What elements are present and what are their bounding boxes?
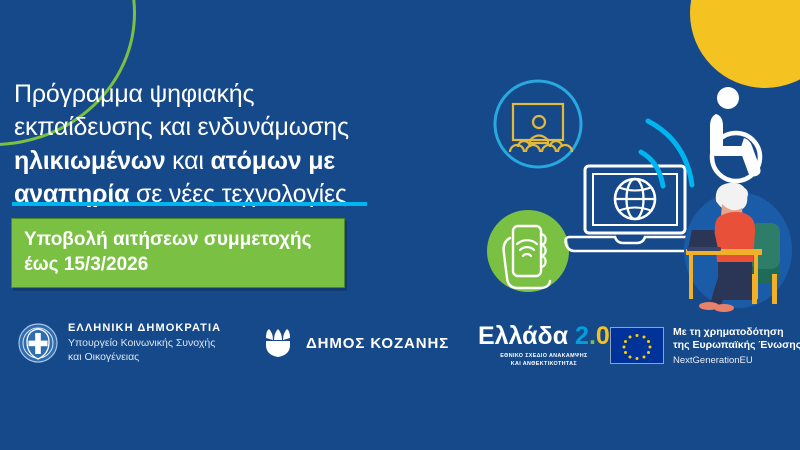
gov-subtitle-2: και Οικογένειας [68, 350, 221, 365]
headline-line-2: εκπαίδευσης και ενδυνάμωσης [14, 111, 414, 144]
gov-subtitle-1: Υπουργείο Κοινωνικής Συνοχής [68, 336, 221, 351]
headline-conjunction: και [165, 147, 210, 175]
greece-version-zero: 0 [596, 322, 610, 350]
cyan-divider [12, 202, 367, 206]
kozani-crocus-icon [262, 326, 294, 360]
headline-emphasis-persons: ατόμων με [211, 147, 335, 175]
footer-logos: ΕΛΛΗΝΙΚΗ ΔΗΜΟΚΡΑΤΙΑ Υπουργείο Κοινωνικής… [0, 312, 800, 382]
application-deadline-box: Υποβολή αιτήσεων συμμετοχής έως 15/3/202… [11, 218, 345, 288]
yellow-circle-decoration [690, 0, 800, 88]
illustration-svg [460, 78, 800, 313]
eu-funding-logo: Με τη χρηματοδότηση της Ευρωπαϊκής Ένωση… [610, 326, 800, 366]
classroom-presentation-icon [495, 81, 581, 167]
wheelchair-accessibility-icon [710, 87, 761, 181]
greece-2-0-subtitle-1: ΕΘΝΙΚΟ ΣΧΕΔΙΟ ΑΝΑΚΑΜΨΗΣ [478, 352, 610, 360]
greece-2-0-wordmark: Ελλάδα 2.0 [478, 324, 610, 349]
greece-2-0-logo: Ελλάδα 2.0 ΕΘΝΙΚΟ ΣΧΕΔΙΟ ΑΝΑΚΑΜΨΗΣ ΚΑΙ Α… [478, 324, 610, 368]
eu-funding-line-1: Με τη χρηματοδότηση [673, 326, 800, 339]
program-announcement-banner: Πρόγραμμα ψηφιακής εκπαίδευσης και ενδυν… [0, 0, 800, 450]
greece-version-dot: . [589, 322, 596, 350]
european-union-flag-icon [610, 327, 664, 364]
hellenic-republic-logo: ΕΛΛΗΝΙΚΗ ΔΗΜΟΚΡΑΤΙΑ Υπουργείο Κοινωνικής… [18, 320, 221, 366]
gov-title: ΕΛΛΗΝΙΚΗ ΔΗΜΟΚΡΑΤΙΑ [68, 321, 221, 336]
headline-block: Πρόγραμμα ψηφιακής εκπαίδευσης και ενδυν… [14, 78, 414, 211]
greece-version-two: 2 [575, 322, 589, 350]
headline-line-3: ηλικιωμένων και ατόμων με [14, 145, 414, 178]
next-generation-eu-label: NextGenerationEU [673, 355, 800, 366]
greece-2-0-subtitle-2: ΚΑΙ ΑΝΘΕΚΤΙΚΟΤΗΤΑΣ [478, 360, 610, 368]
globe-icon [615, 179, 655, 219]
municipality-logo: ΔΗΜΟΣ ΚΟΖΑΝΗΣ [262, 326, 449, 360]
cta-line-1: Υποβολή αιτήσεων συμμετοχής [24, 227, 332, 252]
municipality-name: ΔΗΜΟΣ ΚΟΖΑΝΗΣ [306, 335, 449, 352]
cta-line-2: έως 15/3/2026 [24, 252, 332, 277]
eu-funding-line-2: της Ευρωπαϊκής Ένωσης [673, 339, 800, 352]
headline-emphasis-elderly: ηλικιωμένων [14, 147, 165, 175]
headline-line-4: αναπηρία σε νέες τεχνολογίες [14, 178, 414, 211]
headline-line-1: Πρόγραμμα ψηφιακής [14, 78, 414, 111]
greek-coat-of-arms-icon [18, 320, 58, 366]
elderly-woman-at-laptop-illustration [684, 183, 792, 312]
laptop-globe-icon [566, 166, 695, 251]
illustration-group [460, 78, 800, 313]
greece-label: Ελλάδα [478, 322, 568, 350]
hand-holding-smartphone-icon [487, 210, 569, 292]
